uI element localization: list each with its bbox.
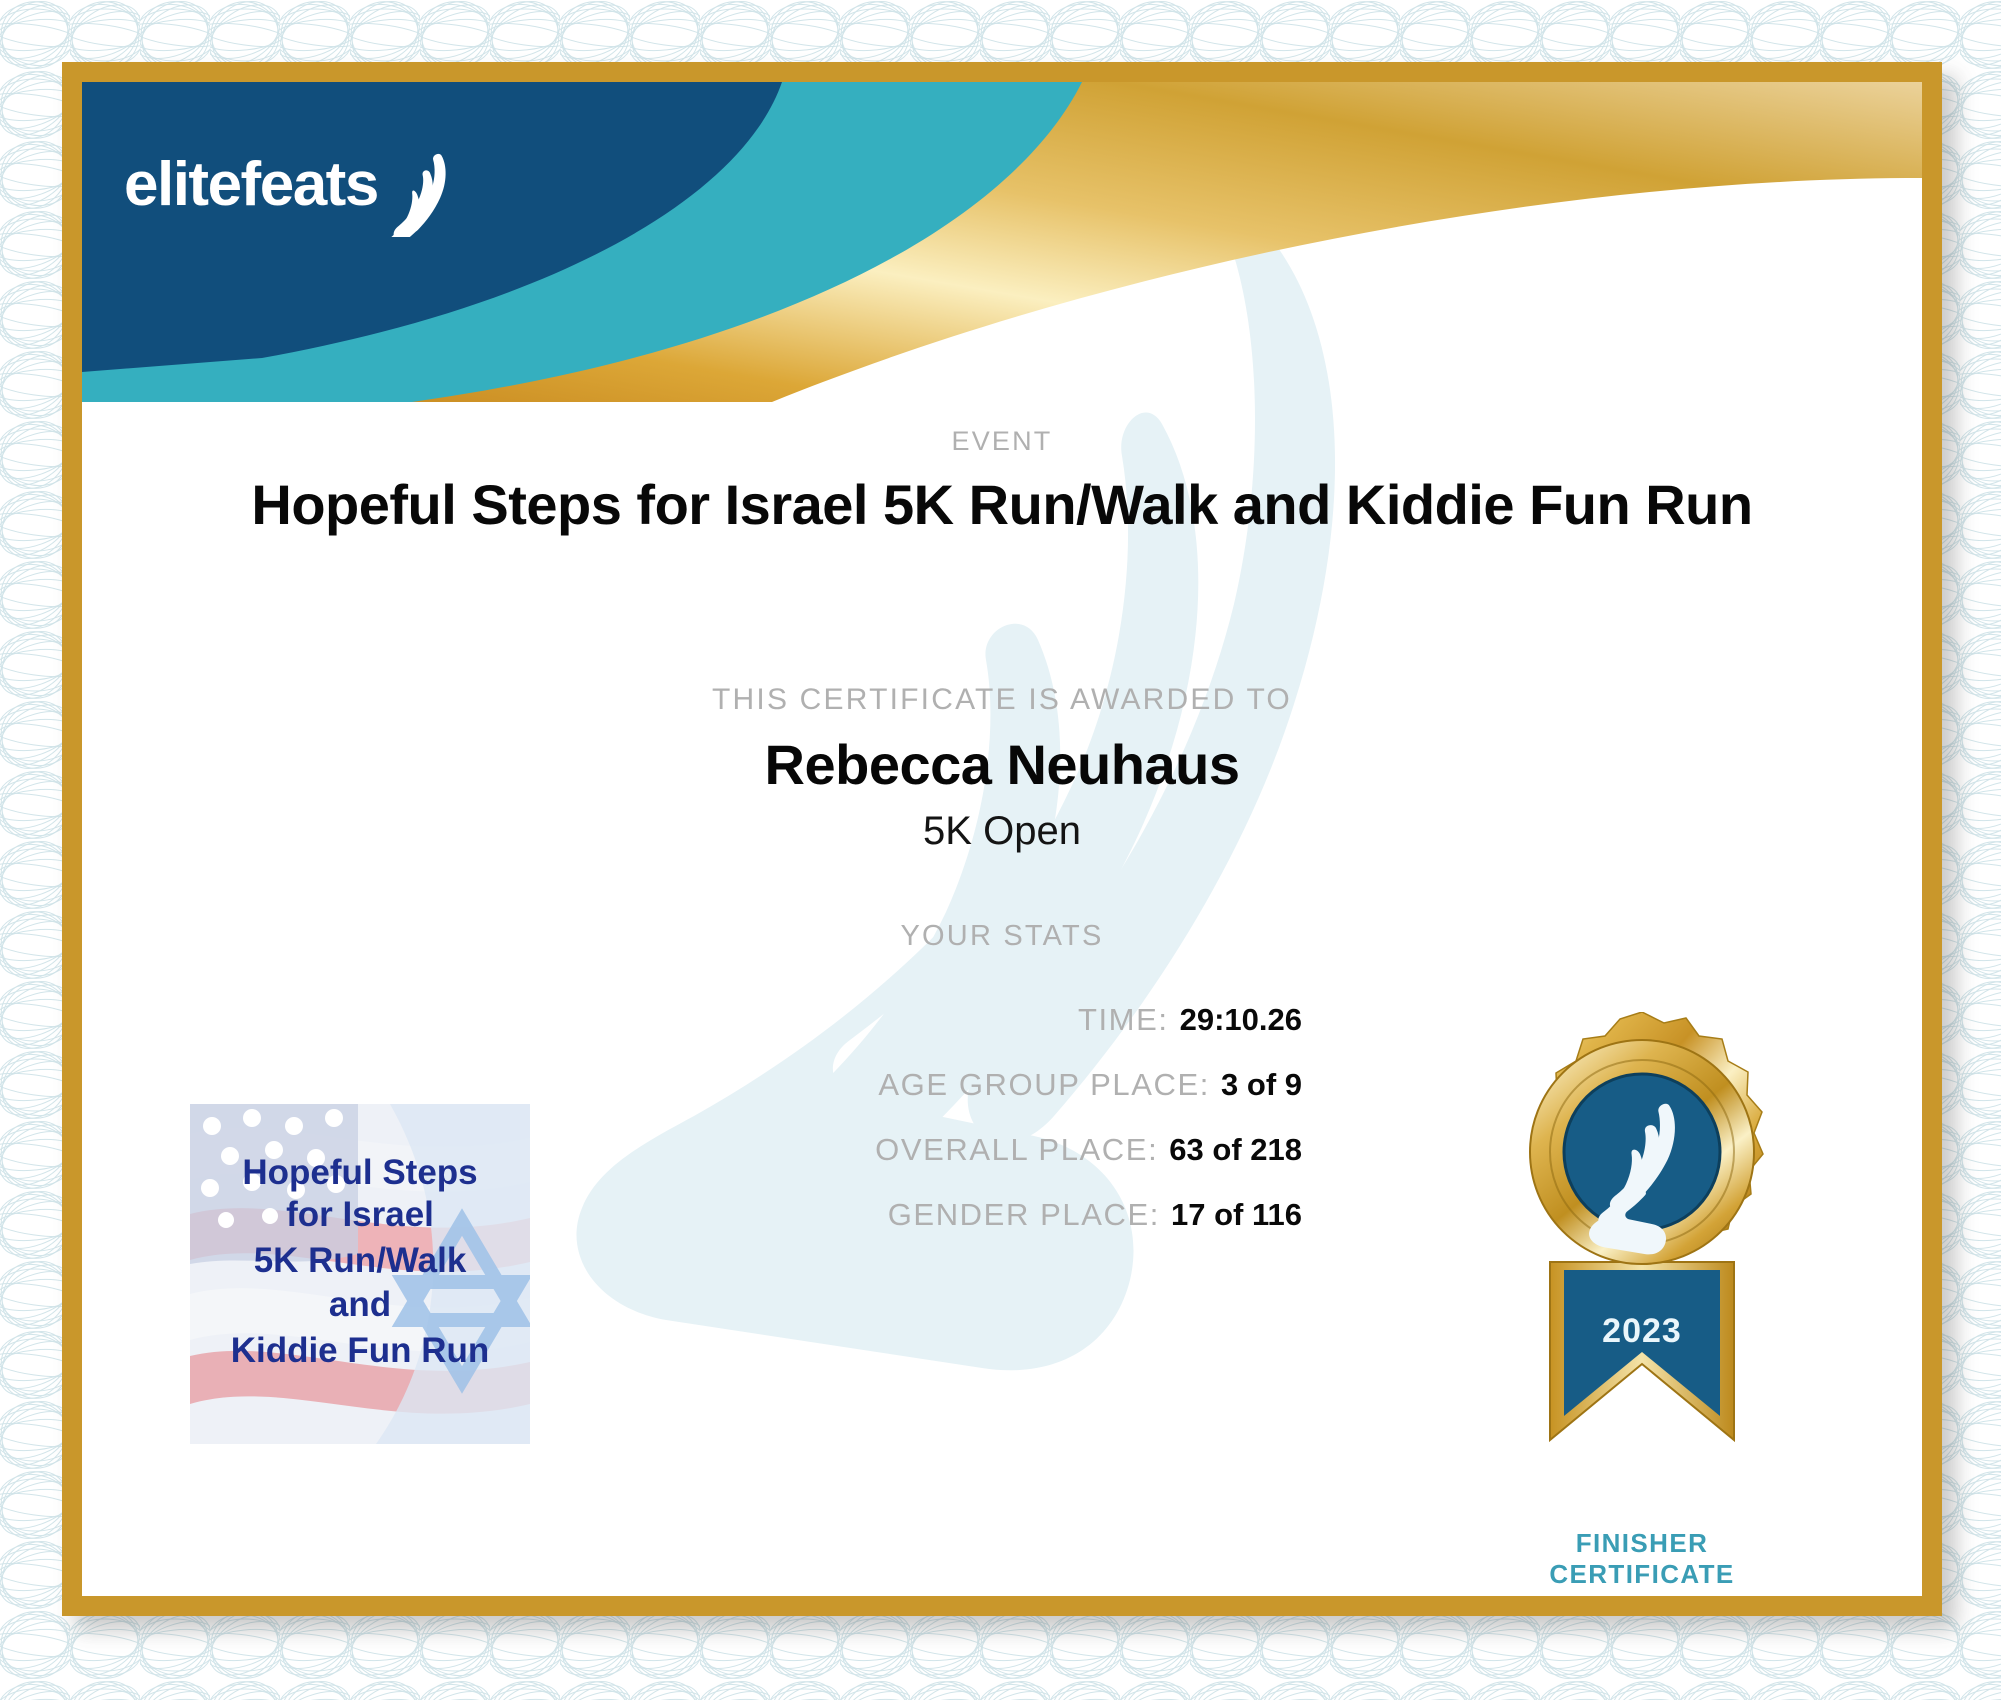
awarded-to-label: THIS CERTIFICATE IS AWARDED TO [82, 683, 1922, 717]
stats-list: TIME: 29:10.26 AGE GROUP PLACE: 3 of 9 O… [422, 1002, 1302, 1262]
stat-value-gender-place: 17 of 116 [1171, 1197, 1302, 1233]
event-image-line-4: and [329, 1285, 391, 1324]
stat-label-gender-place: GENDER PLACE: [888, 1197, 1160, 1233]
event-image-line-5: Kiddie Fun Run [231, 1331, 490, 1370]
stat-value-time: 29:10.26 [1180, 1002, 1302, 1038]
event-label: EVENT [82, 426, 1922, 457]
recipient-name: Rebecca Neuhaus [82, 732, 1922, 797]
badge-caption-line-1: FINISHER [1462, 1528, 1822, 1559]
stat-row: AGE GROUP PLACE: 3 of 9 [422, 1067, 1302, 1123]
event-image-line-2: for Israel [286, 1195, 434, 1234]
brand-wordmark: elitefeats [124, 150, 378, 219]
certificate-paper: elitefeats EVENT Hopeful Steps for Israe… [82, 82, 1922, 1596]
recipient-division: 5K Open [82, 809, 1922, 854]
stat-row: OVERALL PLACE: 63 of 218 [422, 1132, 1302, 1188]
stat-row: GENDER PLACE: 17 of 116 [422, 1197, 1302, 1253]
event-title: Hopeful Steps for Israel 5K Run/Walk and… [122, 472, 1882, 537]
badge-caption: FINISHER CERTIFICATE [1462, 1528, 1822, 1589]
badge-caption-line-2: CERTIFICATE [1462, 1559, 1822, 1590]
elitefeats-logo: elitefeats [124, 137, 464, 237]
your-stats-label: YOUR STATS [82, 920, 1922, 953]
winged-foot-icon [377, 154, 446, 237]
event-logo-image: Hopeful Steps for Israel 5K Run/Walk and… [190, 1104, 530, 1444]
stat-value-overall-place: 63 of 218 [1169, 1132, 1302, 1168]
stat-label-time: TIME: [1078, 1002, 1169, 1038]
finisher-medal-badge: 2023 [1492, 1012, 1792, 1532]
certificate-body: EVENT Hopeful Steps for Israel 5K Run/Wa… [82, 82, 1922, 1596]
stat-row: TIME: 29:10.26 [422, 1002, 1302, 1058]
certificate-page: elitefeats EVENT Hopeful Steps for Israe… [0, 0, 2001, 1700]
event-image-line-3: 5K Run/Walk [254, 1241, 467, 1280]
stat-value-age-group-place: 3 of 9 [1221, 1067, 1302, 1103]
event-image-line-1: Hopeful Steps [242, 1153, 477, 1192]
stat-label-overall-place: OVERALL PLACE: [875, 1132, 1158, 1168]
stat-label-age-group-place: AGE GROUP PLACE: [878, 1067, 1210, 1103]
badge-year: 2023 [1602, 1312, 1682, 1350]
certificate-gold-frame: elitefeats EVENT Hopeful Steps for Israe… [62, 62, 1942, 1616]
